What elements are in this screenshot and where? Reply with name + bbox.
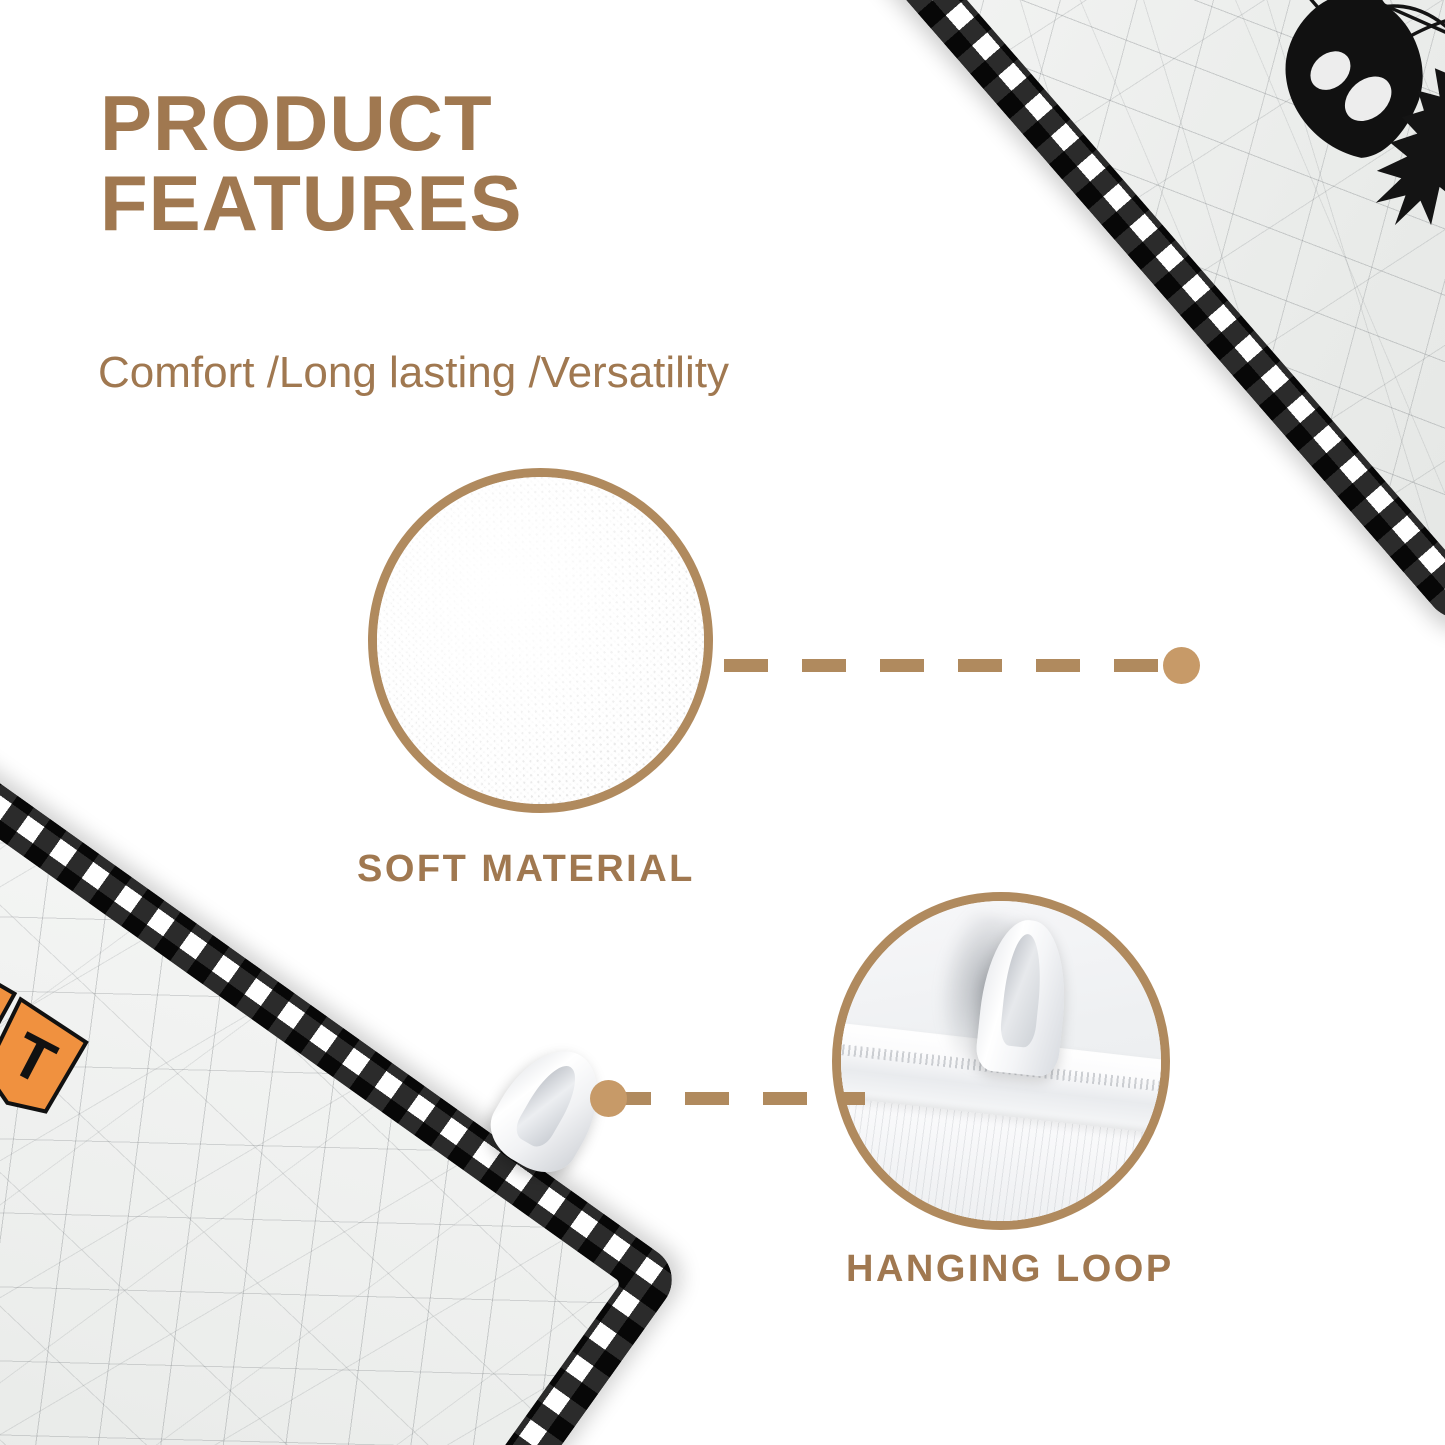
soft-material-detail-circle bbox=[368, 468, 713, 813]
hanging-loop-label: HANGING LOOP bbox=[846, 1248, 1174, 1291]
soft-material-connector-line bbox=[724, 659, 1179, 672]
terry-texture-swatch bbox=[377, 477, 704, 804]
page-title: PRODUCT FEATURES bbox=[100, 84, 860, 243]
hanging-loop-connector-dot bbox=[590, 1080, 627, 1117]
hanging-loop-detail-circle bbox=[832, 892, 1170, 1230]
page-subtitle: Comfort /Long lasting /Versatility bbox=[98, 348, 729, 398]
product-features-infographic: T R E A T bbox=[0, 0, 1445, 1445]
hanging-loop-connector-line bbox=[607, 1092, 865, 1105]
hanging-loop-photo bbox=[841, 901, 1161, 1221]
soft-material-connector-dot bbox=[1163, 647, 1200, 684]
soft-material-label: SOFT MATERIAL bbox=[357, 848, 695, 891]
towel-top-right bbox=[793, 0, 1445, 632]
